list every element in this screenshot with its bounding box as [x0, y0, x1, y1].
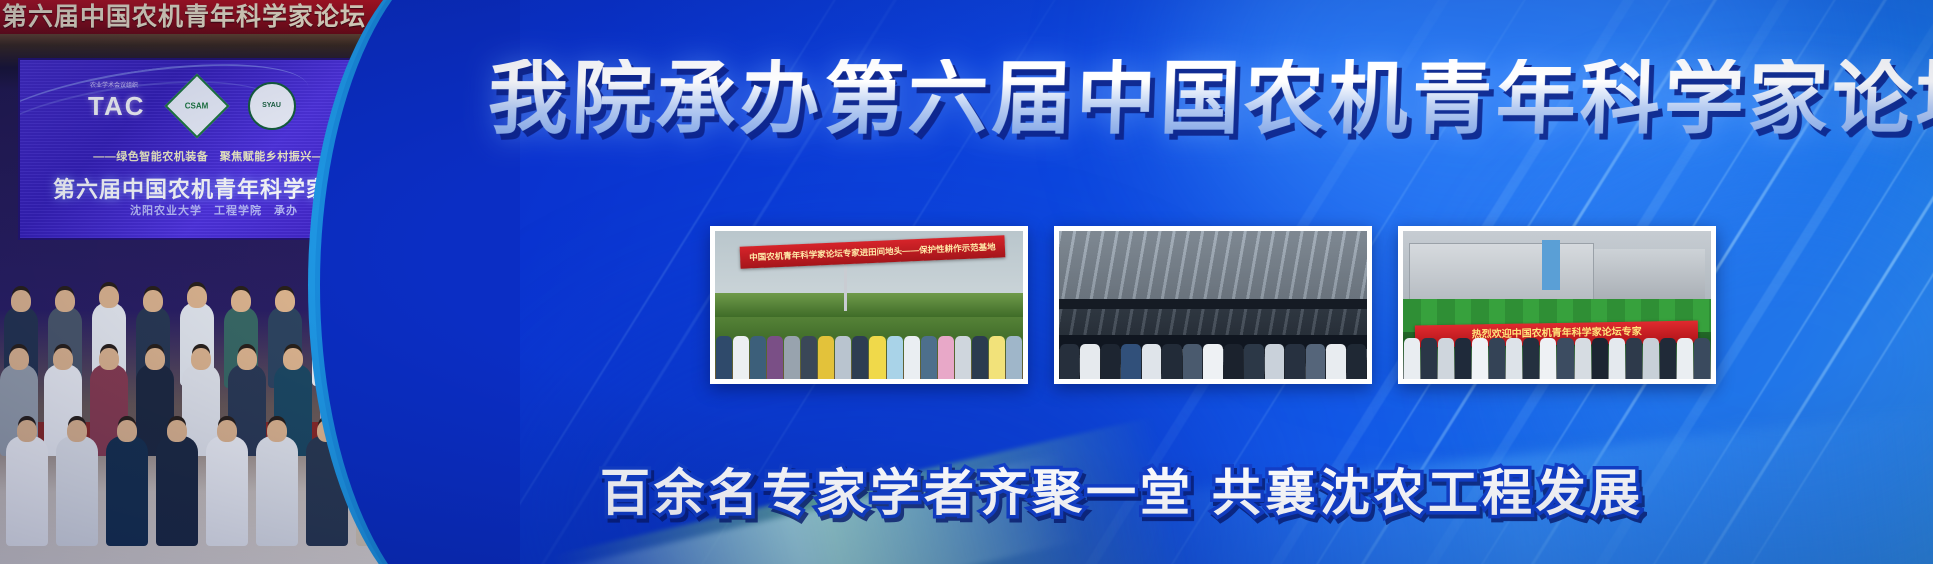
- tac-logo-text: TAC: [88, 91, 146, 121]
- factory-people-row: [1403, 320, 1711, 379]
- field-visit-photo: 中国农机青年科学家论坛专家进田间地头——保护性耕作示范基地: [710, 226, 1028, 384]
- banner-headline-text: 我院承办第六届中国农机青年科学家论坛: [487, 59, 1933, 139]
- banner-headline: 我院承办第六届中国农机青年科学家论坛: [488, 50, 1828, 148]
- tac-logo-tagline: 农业学术会议组织: [90, 83, 138, 89]
- hall-red-banner-text: 第六届中国农机青年科学家论坛: [2, 3, 366, 31]
- factory-welcome-photo: 热烈欢迎中国农机青年科学家论坛专家: [1398, 226, 1716, 384]
- photo-strip: 中国农机青年科学家论坛专家进田间地头——保护性耕作示范基地: [710, 226, 1716, 384]
- csam-logo: CSAM: [164, 73, 229, 138]
- csam-logo-text: CSAM: [185, 102, 209, 111]
- workshop-people-row: [1059, 329, 1367, 379]
- news-banner-image: 第六届中国农机青年科学家论坛 农业学术会议组织 TAC CSAM SYAU: [0, 0, 1933, 564]
- machinery-workshop-photo: [1054, 226, 1372, 384]
- university-seal-text: SYAU: [262, 102, 281, 110]
- university-seal-logo: SYAU: [248, 82, 296, 130]
- field-visit-people-row: [715, 317, 1023, 379]
- conference-group-photo: 第六届中国农机青年科学家论坛 农业学术会议组织 TAC CSAM SYAU: [0, 0, 520, 564]
- banner-subheadline-text: 百余名专家学者齐聚一堂 共襄沈农工程发展: [600, 453, 1644, 525]
- stage-logo-row: 农业学术会议组织 TAC CSAM SYAU: [88, 82, 296, 130]
- tac-logo: 农业学术会议组织 TAC: [88, 93, 146, 119]
- banner-subheadline: 百余名专家学者齐聚一堂 共襄沈农工程发展: [600, 452, 1830, 526]
